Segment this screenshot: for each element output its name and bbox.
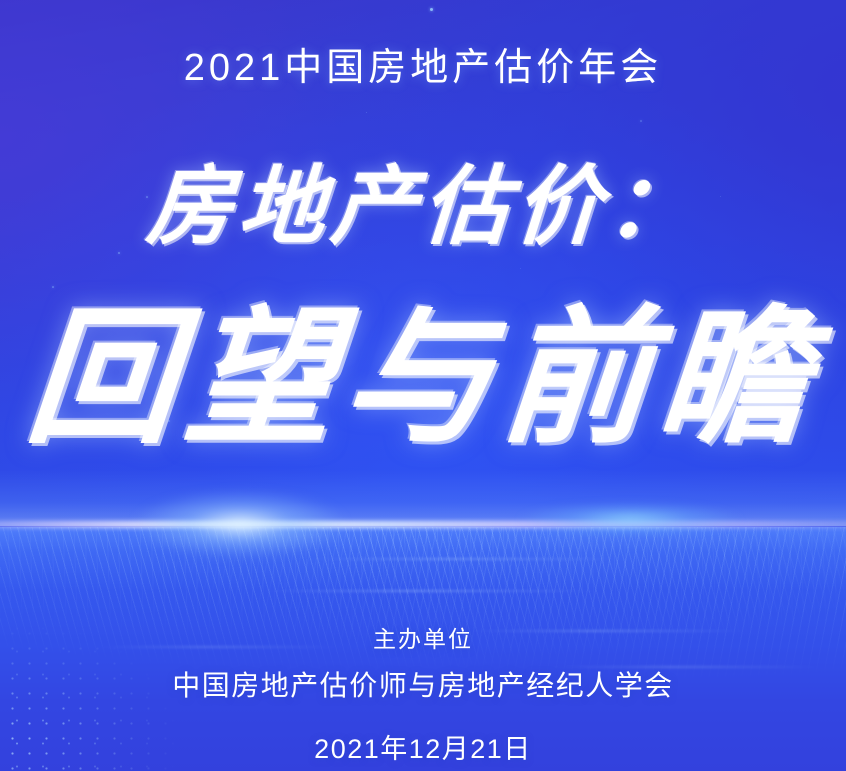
organizer-name: 中国房地产估价师与房地产经纪人学会 — [0, 664, 846, 704]
event-header: 2021中国房地产估价年会 — [0, 36, 846, 91]
conference-poster: 2021中国房地产估价年会 房地产估价： 回望与前瞻 主办单位 中国房地产估价师… — [0, 0, 846, 771]
poster-title-line-2: 回望与前瞻 — [0, 300, 846, 455]
poster-title-line-1: 房地产估价： — [0, 164, 846, 250]
event-date: 2021年12月21日 — [0, 727, 846, 766]
poster-content: 2021中国房地产估价年会 房地产估价： 回望与前瞻 主办单位 中国房地产估价师… — [0, 0, 846, 771]
organizer-label: 主办单位 — [0, 620, 846, 654]
